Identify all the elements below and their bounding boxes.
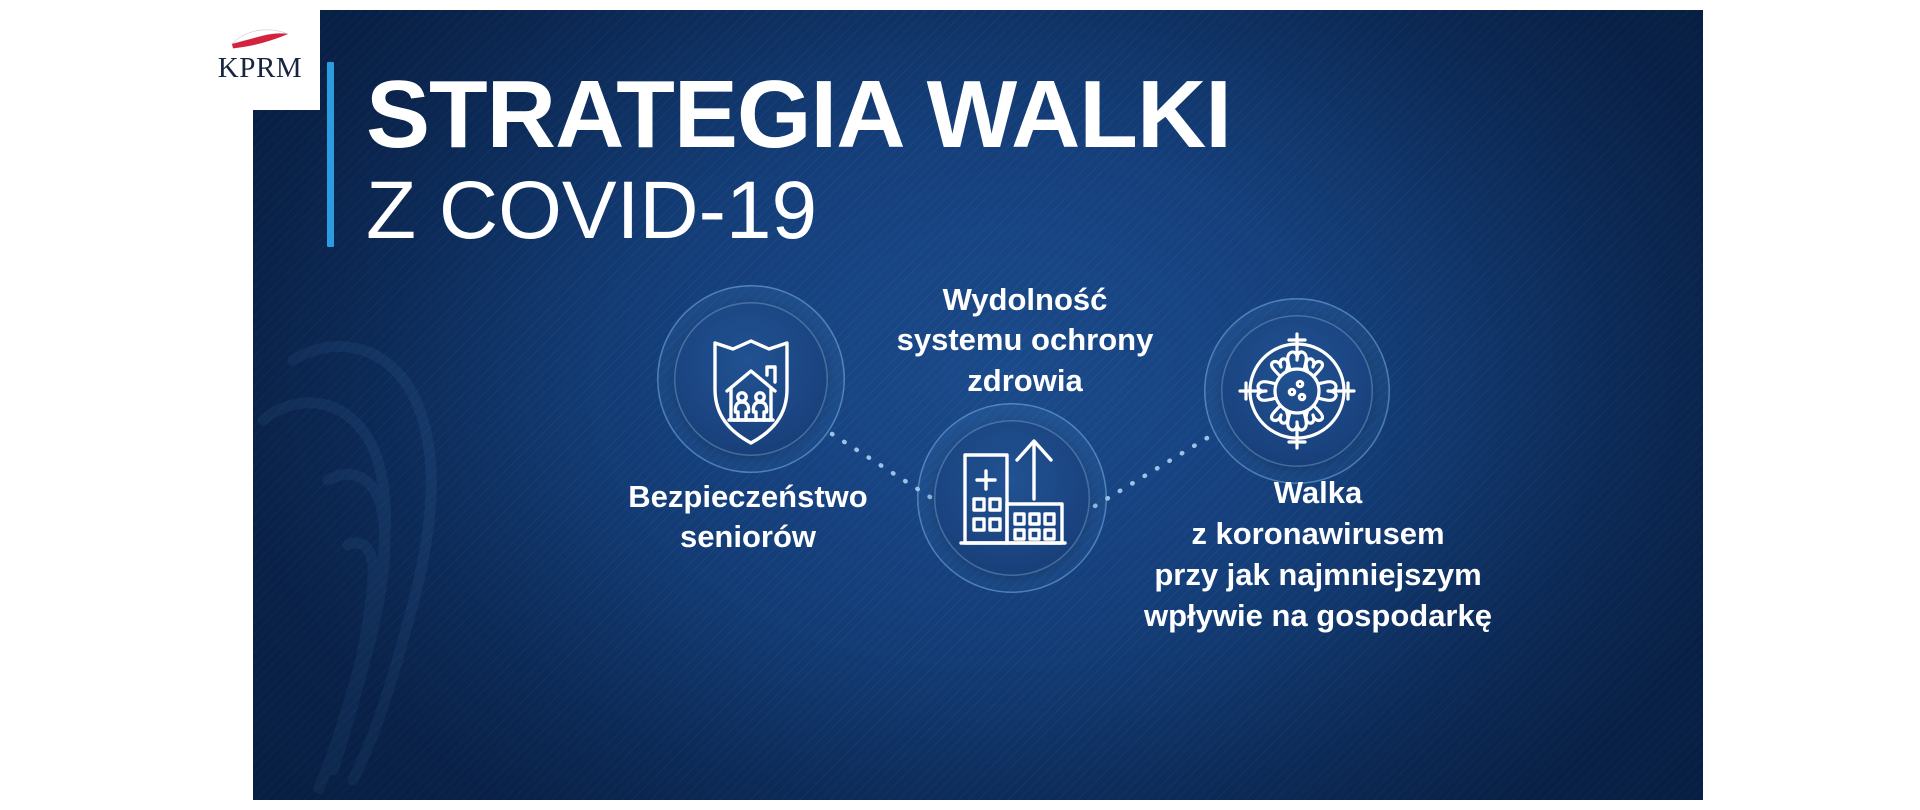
- label-line: Walka: [1108, 473, 1528, 514]
- node-seniors-safety[interactable]: [657, 285, 845, 473]
- label-line: wpływie na gospodarkę: [1108, 596, 1528, 637]
- hospital-growth-arrow-icon: [917, 403, 1107, 593]
- node-health-system-capacity[interactable]: [917, 403, 1107, 593]
- fingerprint-decoration: [253, 310, 583, 800]
- coronavirus-target-icon: [1204, 298, 1390, 484]
- label-seniors-safety: Bezpieczeństwo seniorów: [598, 477, 898, 558]
- title-accent-bar: [327, 62, 334, 247]
- kprm-logo-text: KPRM: [218, 54, 303, 83]
- page-title: STRATEGIA WALKI: [366, 66, 1231, 164]
- label-line: systemu ochrony: [865, 320, 1185, 360]
- kprm-logo[interactable]: KPRM: [200, 0, 320, 110]
- infographic-canvas: Wydolność systemu ochrony zdrowia Bezpie…: [0, 0, 1920, 810]
- node-fight-coronavirus[interactable]: [1204, 298, 1390, 484]
- label-line: zdrowia: [865, 361, 1185, 401]
- label-health-system-capacity: Wydolność systemu ochrony zdrowia: [865, 280, 1185, 401]
- label-line: Bezpieczeństwo: [598, 477, 898, 517]
- label-fight-coronavirus: Walka z koronawirusem przy jak najmniejs…: [1108, 473, 1528, 637]
- label-line: Wydolność: [865, 280, 1185, 320]
- label-line: przy jak najmniejszym: [1108, 555, 1528, 596]
- label-line: z koronawirusem: [1108, 514, 1528, 555]
- page-title-block: STRATEGIA WALKI Z COVID-19: [327, 62, 1231, 255]
- page-subtitle: Z COVID-19: [366, 168, 1231, 255]
- label-line: seniorów: [598, 517, 898, 557]
- polish-flag-emblem-icon: [228, 27, 292, 53]
- shield-house-family-icon: [657, 285, 845, 473]
